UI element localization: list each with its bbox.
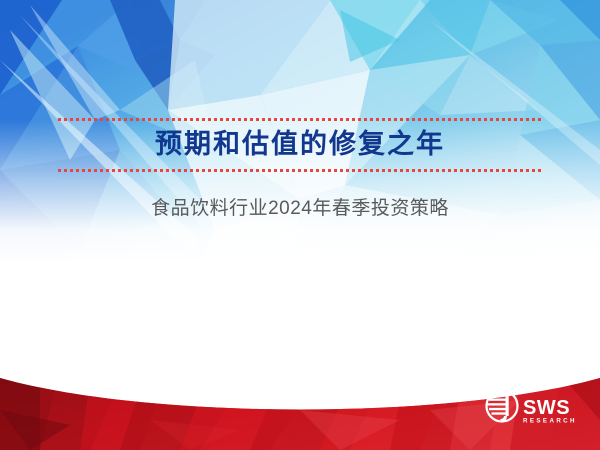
sws-circular-emblem	[487, 391, 518, 422]
page-subtitle: 食品饮料行业2024年春季投资策略	[0, 172, 600, 220]
title-block: 预期和估值的修复之年 食品饮料行业2024年春季投资策略	[0, 118, 600, 220]
sws-logo: SWS RESEARCH	[483, 388, 583, 430]
research-support-line: 研究支持：严泽楠 A0230122090002 熊智超 A02301220500…	[51, 351, 467, 364]
logo-wordmark: SWS	[523, 397, 570, 419]
footer-credits: 证券分析师：吕昌 A0230516010001 周缘 A023051909000…	[51, 338, 467, 378]
report-cover-slide: 预期和估值的修复之年 食品饮料行业2024年春季投资策略 证券分析师：吕昌 A0…	[0, 0, 600, 450]
report-date: 2024.3.28	[51, 365, 467, 378]
sws-logo-svg: SWS RESEARCH	[483, 388, 583, 430]
analysts-line: 证券分析师：吕昌 A0230516010001 周缘 A023051909000…	[51, 338, 467, 351]
logo-subtext: RESEARCH	[523, 418, 577, 425]
page-title: 预期和估值的修复之年	[0, 121, 600, 169]
